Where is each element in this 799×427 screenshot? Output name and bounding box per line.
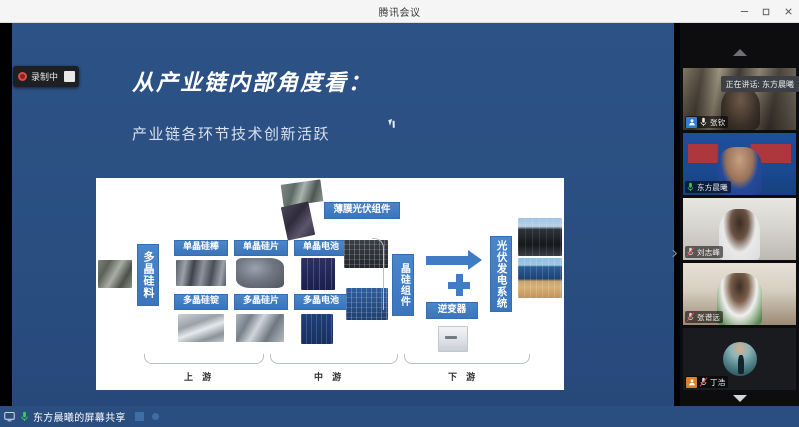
stage-label-midstream: 中 游 [314,370,344,383]
participant-name: 张谱远 [697,312,720,323]
participant-tile[interactable]: 张谱远 [683,263,796,325]
chip-crystalline-module: 晶硅组件 [392,254,414,316]
slide-subtitle: 产业链各环节技术创新活跃 [132,123,330,144]
participant-nameplate: 丁浩 [685,376,728,388]
participant-name: 刘志峰 [697,247,720,258]
supply-chain-diagram: 多晶硅料 薄膜光伏组件 单晶硅棒 单晶硅片 单晶电池 多晶硅锭 多晶硅片 多 [96,178,564,390]
stage-label-downstream: 下 游 [448,370,478,383]
chip-poly-cell: 多晶电池 [294,294,348,310]
mic-on-icon [699,117,708,127]
poly-wafer-photo [236,314,284,342]
inverter-photo [438,326,468,352]
participant-name: 丁浩 [710,377,725,388]
mic-on-icon [686,182,695,192]
mic-off-icon [699,377,708,387]
close-button[interactable] [777,0,799,23]
chip-thinfilm-module: 薄膜光伏组件 [324,202,400,219]
scroll-up-button[interactable] [733,49,747,56]
mono-cell-photo [301,258,335,290]
mono-wafer-photo [236,258,284,288]
tencent-meeting-window: 腾讯会议 从产业链内部角度看： 产业链各环节技术创新活跃 多 [0,0,799,427]
mono-ingot-photo [176,260,226,286]
status-dot [152,413,159,420]
brace-upstream [144,354,264,364]
mic-off-icon [686,312,695,322]
participant-nameplate: 刘志峰 [685,246,723,258]
poly-ingot-photo [178,314,224,342]
record-dot-icon [18,72,27,81]
chevron-right-icon [671,248,678,259]
brace-midstream [270,354,398,364]
participant-name: 张钦 [710,117,725,128]
scroll-down-button[interactable] [733,395,747,402]
slide-title: 从产业链内部角度看： [132,65,372,97]
pv-rooftop-photo [518,258,562,298]
stop-square-icon[interactable] [64,71,75,82]
close-icon [783,6,794,17]
process-arrow [426,250,484,270]
mic-off-icon [686,247,695,257]
minimize-button[interactable] [733,0,755,23]
participant-tile[interactable]: 东方晨曦 [683,133,796,195]
title-bar: 腾讯会议 [0,0,799,23]
minimize-icon [739,6,750,17]
window-controls [733,0,799,23]
person-icon [688,378,696,386]
host-badge-icon [686,117,697,128]
restore-icon [761,6,772,17]
participants-rail: 正在讲话: 东方晨曦 张钦 东方晨曦 [680,23,799,406]
status-chip [135,412,144,421]
participant-nameplate: 东方晨曦 [685,181,731,193]
person-icon [688,118,696,126]
brace-downstream [404,354,530,364]
speaking-tooltip: 正在讲话: 东方晨曦 [721,76,799,92]
participant-tile[interactable]: 丁浩 [683,328,796,390]
host-badge-icon [686,377,697,388]
chip-feedstock: 多晶硅料 [137,244,159,306]
recording-indicator[interactable]: 录制中 [13,66,79,87]
participant-nameplate: 张谱远 [685,311,723,323]
monitor-share-icon [3,411,15,423]
participant-tile[interactable]: 刘志峰 [683,198,796,260]
avatar [723,342,757,376]
status-bar: 东方晨曦的屏幕共享 [0,406,799,427]
chip-poly-ingot: 多晶硅锭 [174,294,228,310]
plus-symbol-icon [448,274,470,296]
chip-pv-system: 光伏发电系统 [490,236,512,312]
brace-module-group [372,238,384,310]
rail-collapse-button[interactable] [668,233,680,273]
recording-label: 录制中 [31,70,58,83]
chip-mono-ingot: 单晶硅棒 [174,240,228,256]
chip-mono-wafer: 单晶硅片 [234,240,288,256]
restore-button[interactable] [755,0,777,23]
chip-poly-wafer: 多晶硅片 [234,294,288,310]
stage-label-upstream: 上 游 [184,370,214,383]
mouse-cursor [388,118,396,126]
participant-name: 东方晨曦 [697,182,728,193]
pv-farm-photo [518,218,562,256]
screen-share-status-text: 东方晨曦的屏幕共享 [33,409,126,424]
feedstock-photo [98,260,132,288]
presentation-slide: 从产业链内部角度看： 产业链各环节技术创新活跃 多晶硅料 薄膜光伏组件 单晶硅棒… [12,23,674,406]
thinfilm-photo-b [281,201,315,240]
shared-screen-area[interactable]: 从产业链内部角度看： 产业链各环节技术创新活跃 多晶硅料 薄膜光伏组件 单晶硅棒… [0,23,674,406]
microphone-icon [18,411,30,423]
window-title: 腾讯会议 [379,4,421,19]
chip-inverter: 逆变器 [426,302,478,319]
participant-nameplate: 张钦 [685,116,728,128]
poly-cell-photo [301,314,333,344]
chip-mono-cell: 单晶电池 [294,240,348,256]
